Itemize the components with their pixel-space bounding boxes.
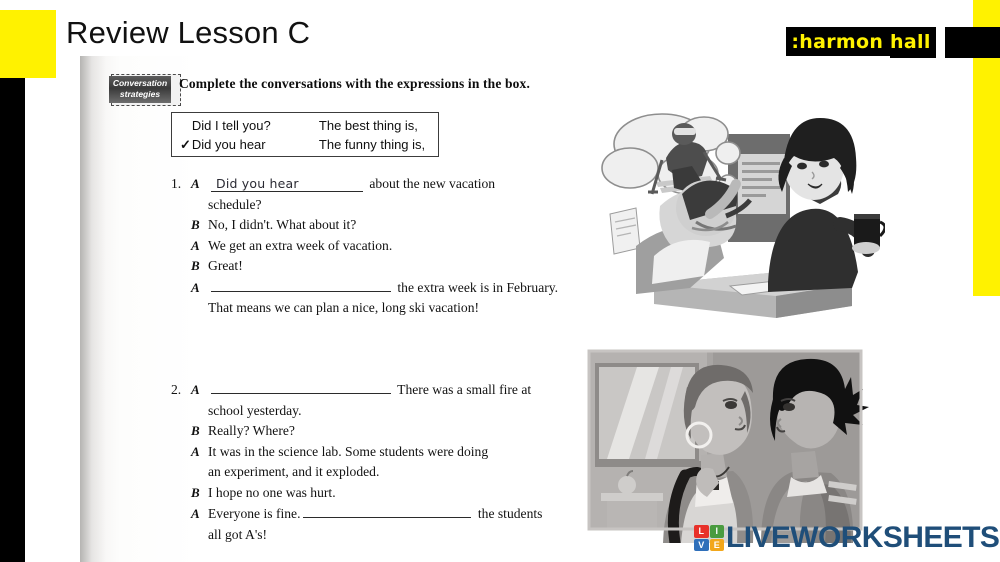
dialogue-line: 1. A Did you hear about the new vacation (171, 174, 591, 195)
dialogue-line: 2. A There was a small fire at (171, 379, 591, 401)
dialogue-text: Great! (208, 256, 591, 277)
speaker-label: B (191, 483, 208, 504)
dialogue-text-after: the students (474, 506, 542, 521)
speaker-label: A (191, 236, 208, 257)
expression-check-mark: ✓ (180, 138, 192, 151)
dialogue-line: B I hope no one was hurt. (171, 483, 591, 504)
liveworksheets-brand-text: LIVEWORKSHEETS (726, 523, 999, 553)
logo-tile-e: E (710, 539, 725, 552)
dialogue-text: We get an extra week of vacation. (208, 236, 591, 257)
speaker-label: A (191, 278, 208, 299)
dialogue-text-after: There was a small fire at (394, 382, 531, 397)
illustration-1-svg (600, 96, 885, 324)
dialogue-text: Did you hear about the new vacation (208, 174, 591, 195)
dialogue-text: the extra week is in February. (208, 277, 591, 299)
answer-blank-input[interactable] (303, 503, 471, 518)
dialogue-line: A Everyone is fine. the students (171, 503, 591, 525)
strategy-tab-line2: strategies (109, 89, 171, 100)
expression-option[interactable]: The best thing is, (319, 118, 438, 133)
illustration-2-svg (585, 343, 870, 543)
dialogue-line: A We get an extra week of vacation. (171, 236, 591, 257)
dialogue-text: I hope no one was hurt. (208, 483, 591, 504)
page-title: Review Lesson C (66, 15, 310, 51)
dialogue-text: Really? Where? (208, 421, 591, 442)
brand-logo-text: harmon hall (799, 31, 930, 53)
expression-option[interactable]: Did I tell you? (192, 118, 319, 133)
speaker-label: B (191, 215, 208, 236)
harmon-hall-logo: :harmon hall (786, 27, 936, 58)
item-number: 1. (171, 174, 191, 195)
expression-option[interactable]: Did you hear (192, 137, 319, 152)
conversation-item-1: 1. A Did you hear about the new vacation… (171, 174, 591, 319)
dialogue-line: A the extra week is in February. (171, 277, 591, 299)
conversation-item-2: 2. A There was a small fire at school ye… (171, 379, 591, 545)
dialogue-text-after: the extra week is in February. (394, 280, 558, 295)
slide-page: Review Lesson C :harmon hall Conversatio… (0, 0, 1000, 562)
instruction-text: Complete the conversations with the expr… (179, 76, 530, 92)
dialogue-text-before: Everyone is fine. (208, 506, 300, 521)
dialogue-text: Everyone is fine. the students (208, 503, 591, 525)
speaker-label: A (191, 442, 208, 463)
answer-blank-input[interactable] (211, 277, 391, 292)
liveworksheets-watermark: L I V E LIVEWORKSHEETS (694, 521, 999, 555)
speaker-label: A (191, 174, 208, 195)
liveworksheets-logo-icon: L I V E (694, 525, 724, 551)
dialogue-text-after: about the new vacation (366, 176, 495, 191)
logo-tile-v: V (694, 539, 709, 552)
filled-answer-input[interactable]: Did you hear (211, 176, 363, 192)
dialogue-line: B No, I didn't. What about it? (171, 215, 591, 236)
decor-yellow-square-topleft (0, 10, 56, 78)
speaker-label: B (191, 421, 208, 442)
logo-tile-i: I (710, 525, 725, 538)
dialogue-continuation: school yesterday. (171, 401, 591, 422)
dialogue-text: It was in the science lab. Some students… (208, 442, 591, 463)
dialogue-line: B Great! (171, 256, 591, 277)
speaker-label: B (191, 256, 208, 277)
dialogue-text: There was a small fire at (208, 379, 591, 401)
dialogue-text: No, I didn't. What about it? (208, 215, 591, 236)
expressions-box: Did I tell you? The best thing is, ✓ Did… (171, 112, 439, 157)
conversation-strategies-label: Conversation strategies (109, 76, 171, 103)
item-number: 2. (171, 380, 191, 401)
expression-row: ✓ Did you hear The funny thing is, (180, 135, 438, 154)
scan-gutter-shadow (80, 56, 106, 562)
expression-row: Did I tell you? The best thing is, (180, 116, 438, 135)
speaker-label: A (191, 504, 208, 525)
illustration-office-ski-daydream (600, 96, 885, 324)
decor-black-bar-left (0, 78, 25, 562)
brand-logo-colon: : (791, 31, 799, 53)
logo-tile-l: L (694, 525, 709, 538)
dialogue-continuation: all got A's! (171, 525, 591, 546)
strategy-tab-line1: Conversation (109, 78, 171, 89)
dialogue-continuation: schedule? (171, 195, 591, 216)
answer-blank-input[interactable] (211, 379, 391, 394)
decor-black-block-topright (945, 27, 1000, 58)
dialogue-continuation: That means we can plan a nice, long ski … (171, 298, 591, 319)
dialogue-line: B Really? Where? (171, 421, 591, 442)
dialogue-line: A It was in the science lab. Some studen… (171, 442, 591, 463)
illustration-students-hallway (585, 343, 870, 543)
expression-option[interactable]: The funny thing is, (319, 137, 438, 152)
dialogue-continuation: an experiment, and it exploded. (171, 462, 591, 483)
speaker-label: A (191, 380, 208, 401)
